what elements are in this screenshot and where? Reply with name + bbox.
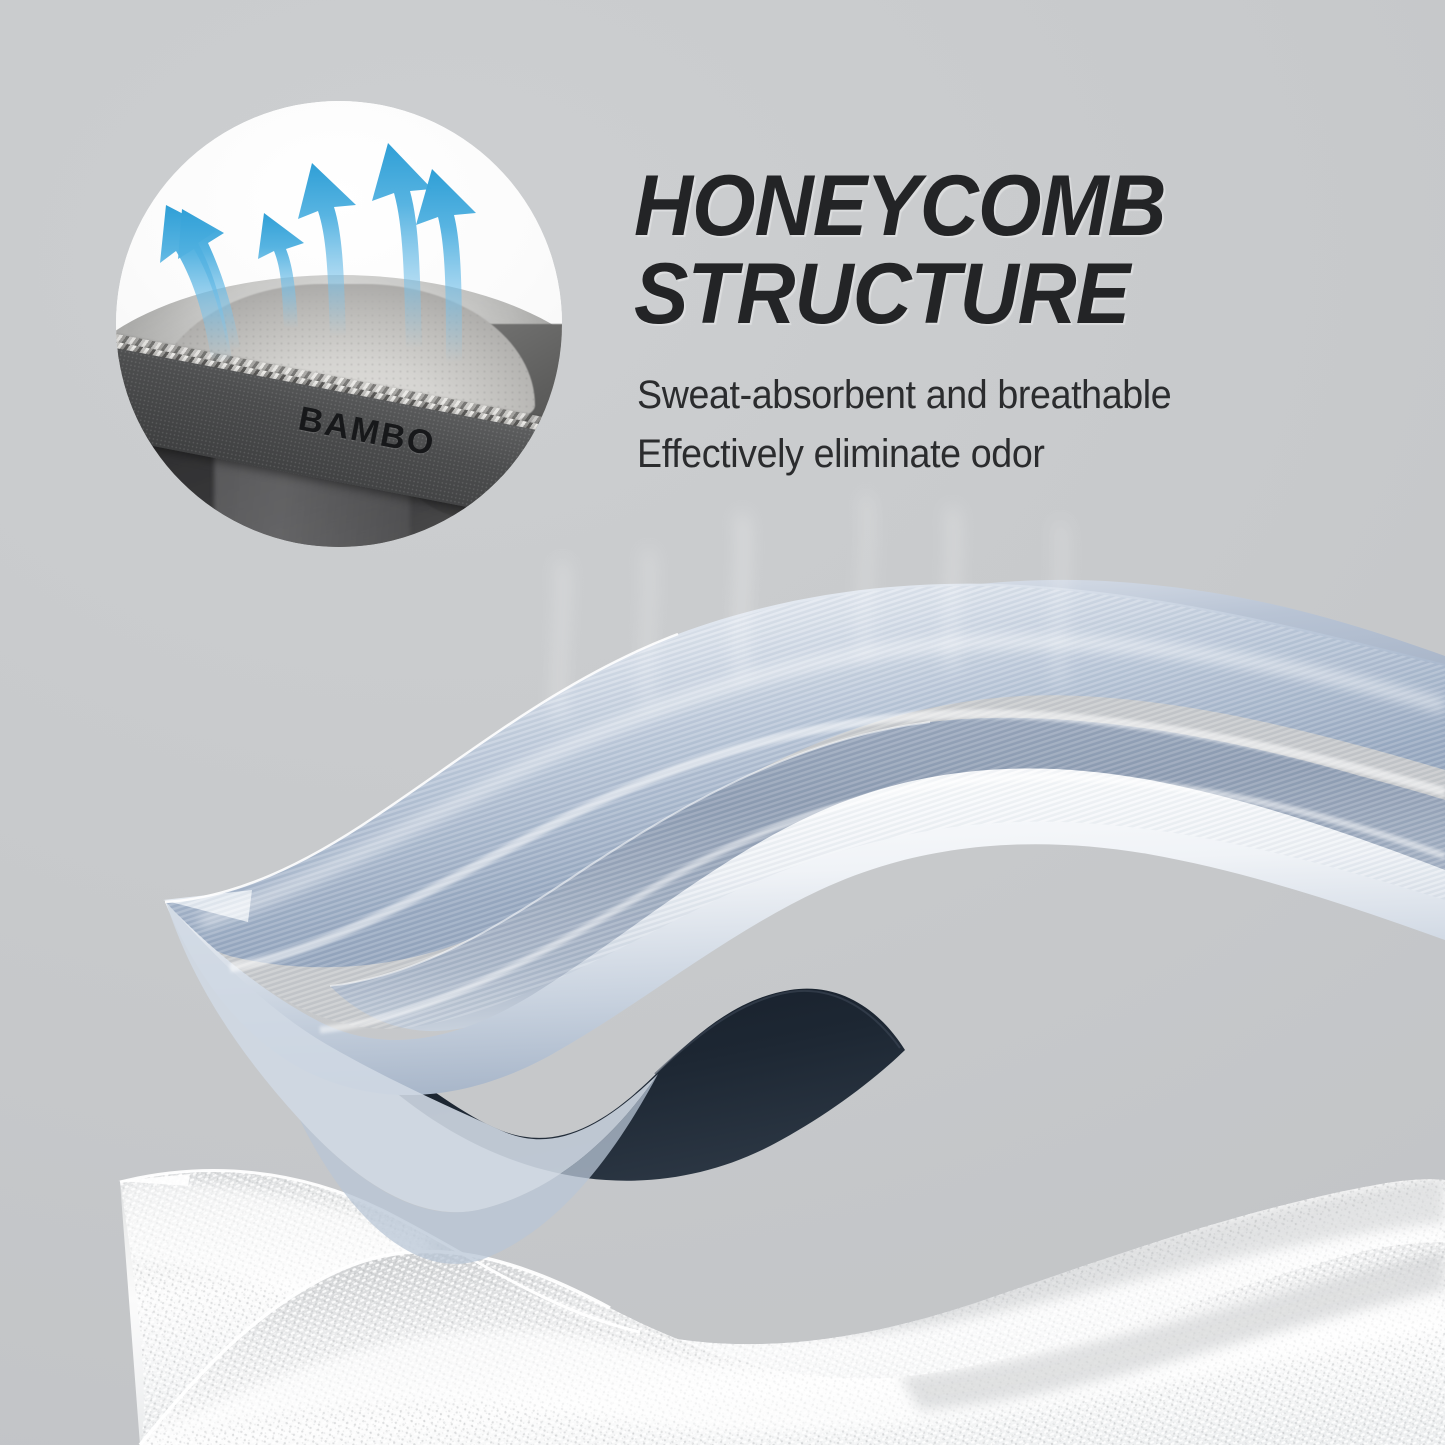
product-feature-poster: BAMBO	[0, 0, 1445, 1445]
breathability-closeup-photo: BAMBO	[116, 101, 562, 547]
headline-line-2: STRUCTURE	[634, 251, 1242, 339]
waistband-brand-label: BAMBO	[295, 400, 438, 465]
headline-line-1: HONEYCOMB	[634, 158, 1166, 254]
white-honeycomb-mesh-layer	[100, 1150, 1445, 1445]
fabric-svg	[0, 470, 1445, 1445]
subtitle-line-1: Sweat-absorbent and breathable	[637, 373, 1171, 417]
feature-subtitle: Sweat-absorbent and breathable Effective…	[637, 366, 1257, 484]
subtitle-line-2: Effectively eliminate odor	[637, 425, 1257, 484]
page-title: HONEYCOMB STRUCTURE	[634, 163, 1242, 338]
fabric-illustration	[0, 470, 1445, 1445]
blue-breathable-top-layer	[120, 560, 1445, 1264]
